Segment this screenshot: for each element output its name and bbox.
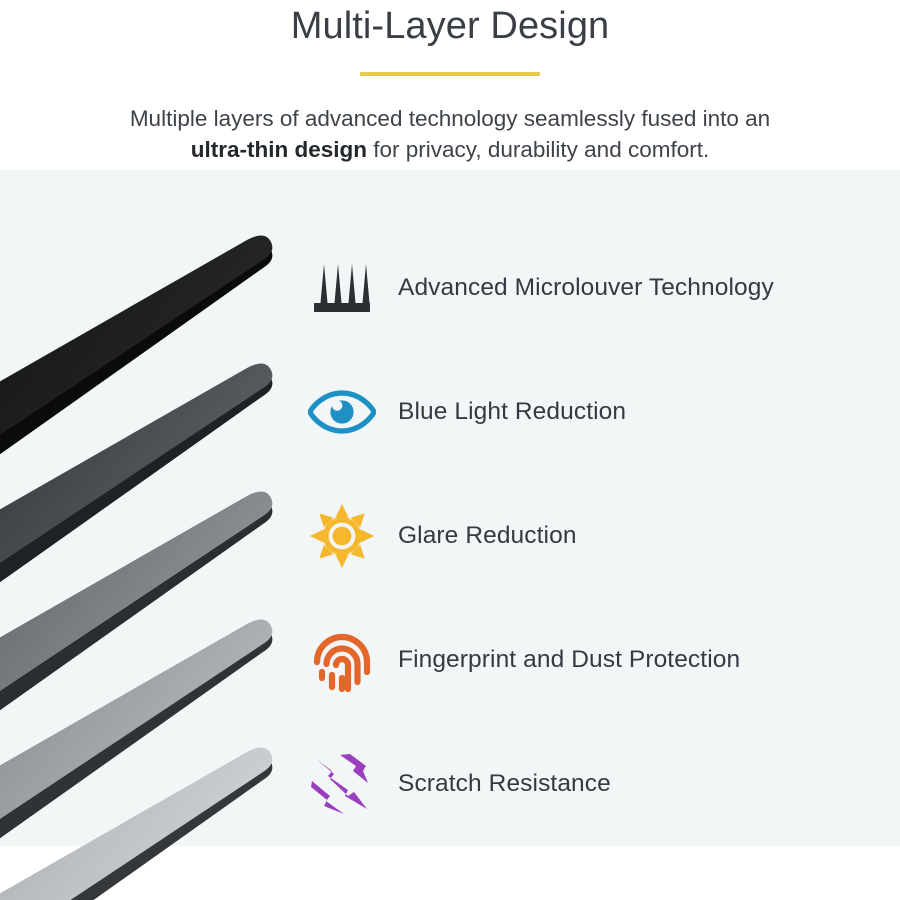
title-divider-wrap [0, 63, 900, 81]
feature-item-glare: Glare Reduction [300, 496, 900, 576]
eye-icon [300, 374, 384, 450]
page-title: Multi-Layer Design [0, 0, 900, 47]
subtitle-line-2-rest: for privacy, durability and comfort. [367, 137, 709, 162]
feature-label-blue-light: Blue Light Reduction [398, 398, 626, 426]
microlouver-icon [300, 250, 384, 326]
subtitle-line-1: Multiple layers of advanced technology s… [130, 106, 770, 131]
feature-label-glare: Glare Reduction [398, 522, 577, 550]
feature-label-scratch: Scratch Resistance [398, 770, 611, 798]
feature-item-fingerprint: Fingerprint and Dust Protection [300, 620, 900, 700]
title-divider [360, 72, 540, 76]
fingerprint-icon [300, 622, 384, 698]
subtitle-emphasis: ultra-thin design [191, 137, 367, 162]
feature-label-fingerprint: Fingerprint and Dust Protection [398, 646, 740, 674]
feature-item-blue-light: Blue Light Reduction [300, 372, 900, 452]
claw-scratch-icon [300, 746, 384, 822]
sun-icon [300, 498, 384, 574]
multi-layer-design-infographic: Multi-Layer Design Multiple layers of ad… [0, 0, 900, 900]
header: Multi-Layer Design Multiple layers of ad… [0, 0, 900, 165]
feature-label-microlouver: Advanced Microlouver Technology [398, 274, 774, 302]
subtitle: Multiple layers of advanced technology s… [55, 103, 845, 165]
feature-list: Advanced Microlouver Technology Blue Lig… [300, 248, 900, 824]
feature-item-microlouver: Advanced Microlouver Technology [300, 248, 900, 328]
feature-item-scratch: Scratch Resistance [300, 744, 900, 824]
